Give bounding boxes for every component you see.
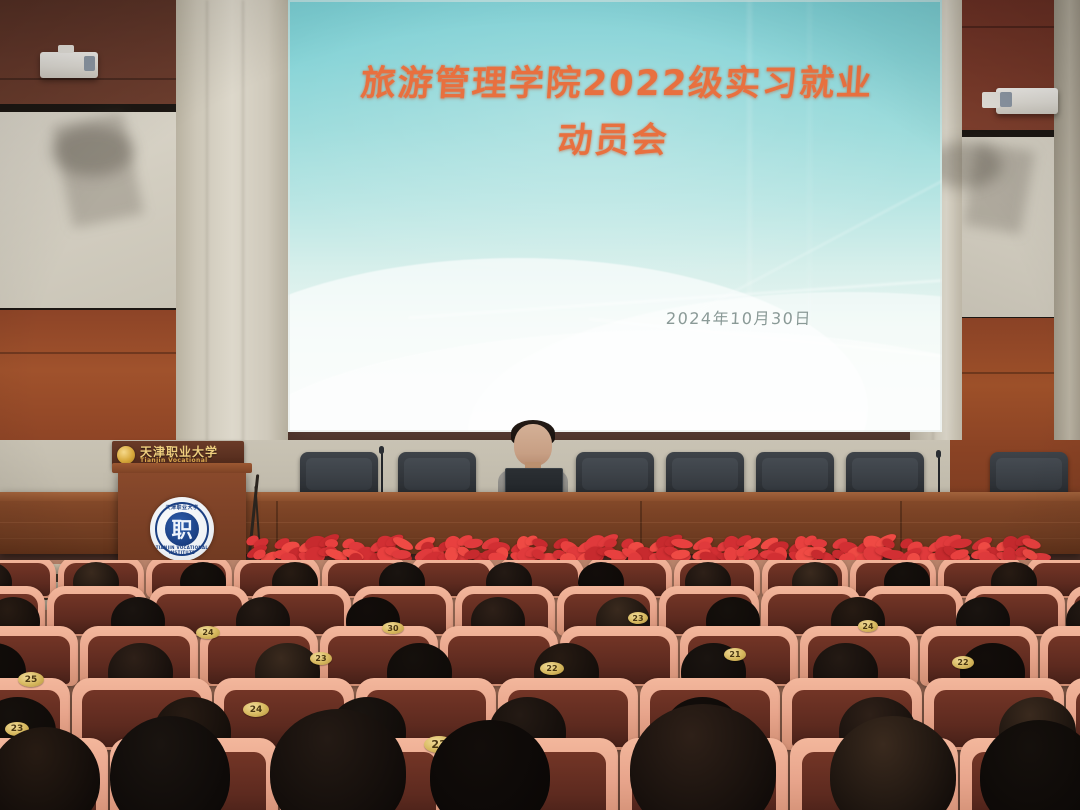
podium-top [112, 463, 252, 473]
emblem-arc-cn: 天津职业大学 [150, 504, 214, 511]
auditorium-photo: 旅游管理学院2022级实习就业 动员会 2024年10月30日 [0, 0, 1080, 810]
wall-trim [0, 104, 180, 112]
wood-wainscot-left [0, 310, 180, 460]
seat-number-plate: 30 [382, 622, 404, 634]
seat-number-plate: 22 [952, 656, 974, 669]
seat-number-plate: 23 [628, 612, 648, 624]
emblem-arc-en: TIANJIN VOCATIONAL INSTITUTE [150, 545, 214, 555]
seat-number-plate: 23 [310, 652, 332, 665]
projector-right [996, 88, 1058, 114]
seat-number-plate: 24 [196, 626, 220, 639]
wall-edge-right [1054, 0, 1080, 470]
wall-column-left [176, 0, 288, 470]
emblem-glyph: 职 [165, 512, 199, 546]
auditorium-seat[interactable] [1040, 626, 1080, 686]
seat-number-plate: 24 [858, 620, 878, 632]
poinsettia-bloom [392, 550, 411, 559]
screen-border [288, 0, 942, 432]
projector-left [40, 52, 98, 78]
seat-number-plate: 21 [724, 648, 746, 661]
panel-seam [0, 352, 180, 354]
seat-number-plate: 24 [243, 702, 269, 717]
seat-cushion [1048, 636, 1080, 684]
university-seal-icon [117, 446, 135, 464]
seat-number-plate: 22 [540, 662, 564, 675]
projector-shadow [52, 126, 134, 176]
podium-emblem: 天津职业大学 职 TIANJIN VOCATIONAL INSTITUTE [150, 497, 214, 561]
audience-seating: 252324233024232223212422第七排 [0, 560, 1080, 810]
seat-number-plate: 25 [18, 672, 44, 687]
projection-screen: 旅游管理学院2022级实习就业 动员会 2024年10月30日 [288, 0, 942, 432]
speaker-head [514, 424, 552, 466]
